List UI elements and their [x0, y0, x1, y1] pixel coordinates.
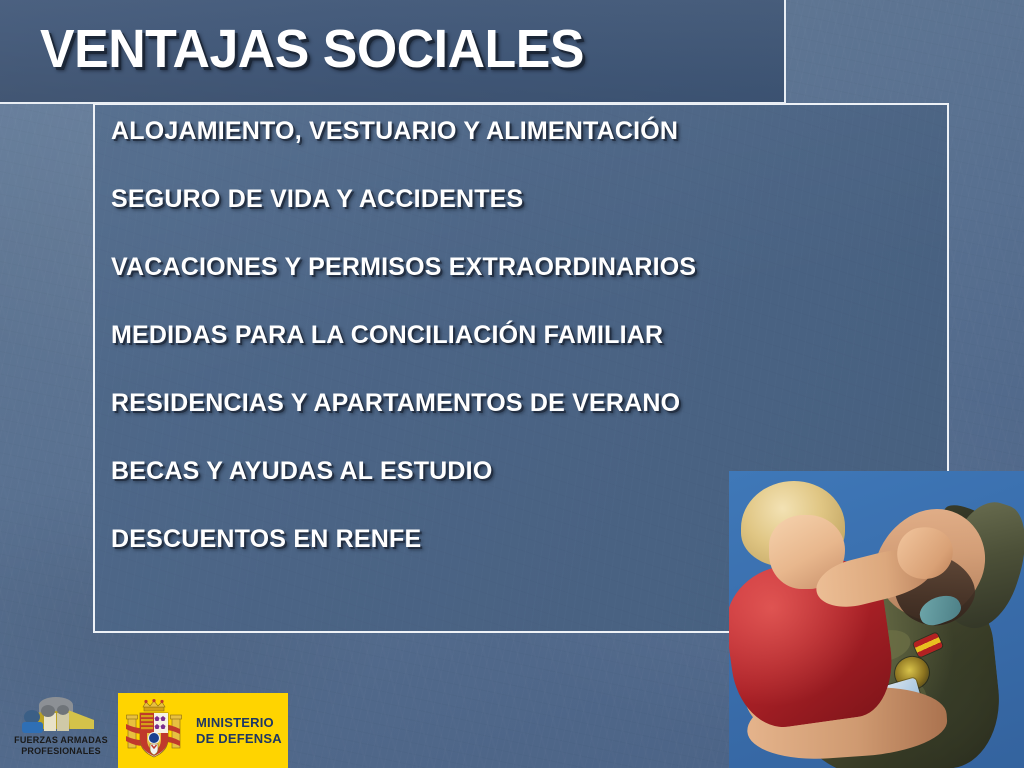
- list-item: SEGURO DE VIDA Y ACCIDENTES: [111, 187, 939, 212]
- fuerzas-armadas-label: FUERZAS ARMADAS PROFESIONALES: [8, 735, 114, 757]
- ministerio-line1: MINISTERIO: [196, 715, 282, 731]
- fuerzas-armadas-logo: FUERZAS ARMADAS PROFESIONALES: [8, 697, 114, 761]
- ministerio-de-defensa-logo: MINISTERIO DE DEFENSA: [118, 693, 288, 768]
- page-title: VENTAJAS SOCIALES: [40, 22, 584, 76]
- fuerzas-armadas-line1: FUERZAS ARMADAS: [8, 735, 114, 746]
- divider-left-rule: [0, 102, 95, 104]
- ministerio-line2: DE DEFENSA: [196, 731, 282, 747]
- soldier-and-child-photo: [729, 471, 1024, 768]
- spanish-coat-of-arms-icon: [124, 698, 184, 764]
- armed-forces-emblem-icon: [8, 697, 114, 737]
- ministerio-label: MINISTERIO DE DEFENSA: [196, 715, 282, 747]
- fuerzas-armadas-line2: PROFESIONALES: [8, 746, 114, 757]
- presentation-slide: VENTAJAS SOCIALES ALOJAMIENTO, VESTUARIO…: [0, 0, 1024, 768]
- list-item: RESIDENCIAS Y APARTAMENTOS DE VERANO: [111, 391, 939, 416]
- list-item: VACACIONES Y PERMISOS EXTRAORDINARIOS: [111, 255, 939, 280]
- title-band: VENTAJAS SOCIALES: [0, 0, 786, 104]
- list-item: ALOJAMIENTO, VESTUARIO Y ALIMENTACIÓN: [111, 119, 939, 144]
- list-item: MEDIDAS PARA LA CONCILIACIÓN FAMILIAR: [111, 323, 939, 348]
